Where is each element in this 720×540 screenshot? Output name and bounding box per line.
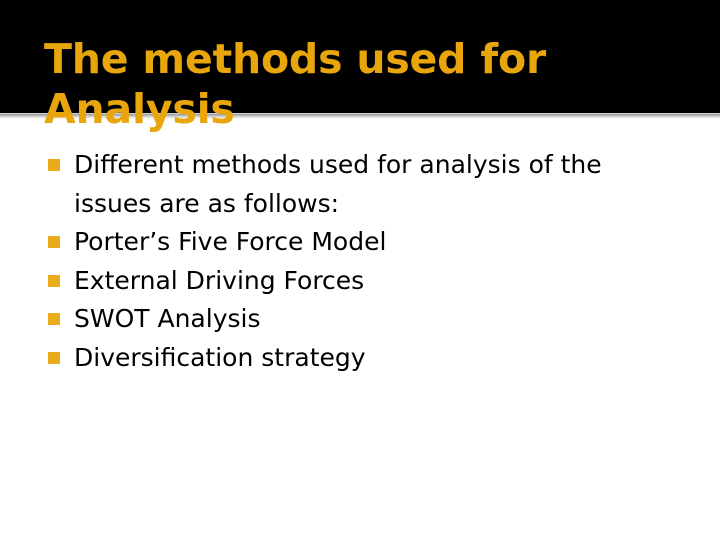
square-bullet-icon xyxy=(48,159,60,171)
list-item-label: Diversification strategy xyxy=(74,339,686,378)
square-bullet-icon xyxy=(48,236,60,248)
list-item: Porter’s Five Force Model xyxy=(46,223,686,262)
presentation-slide: The methods used for Analysis Different … xyxy=(0,0,720,540)
bullet-list: Different methods used for analysis of t… xyxy=(46,146,686,377)
list-item-label: External Driving Forces xyxy=(74,262,686,301)
list-item: SWOT Analysis xyxy=(46,300,686,339)
list-item-label: Different methods used for analysis of t… xyxy=(74,146,686,223)
list-item-label: SWOT Analysis xyxy=(74,300,686,339)
list-item: Different methods used for analysis of t… xyxy=(46,146,686,223)
list-item-label: Porter’s Five Force Model xyxy=(74,223,686,262)
square-bullet-icon xyxy=(48,352,60,364)
list-item: External Driving Forces xyxy=(46,262,686,301)
list-item: Diversification strategy xyxy=(46,339,686,378)
slide-title: The methods used for Analysis xyxy=(44,34,684,134)
square-bullet-icon xyxy=(48,313,60,325)
square-bullet-icon xyxy=(48,275,60,287)
